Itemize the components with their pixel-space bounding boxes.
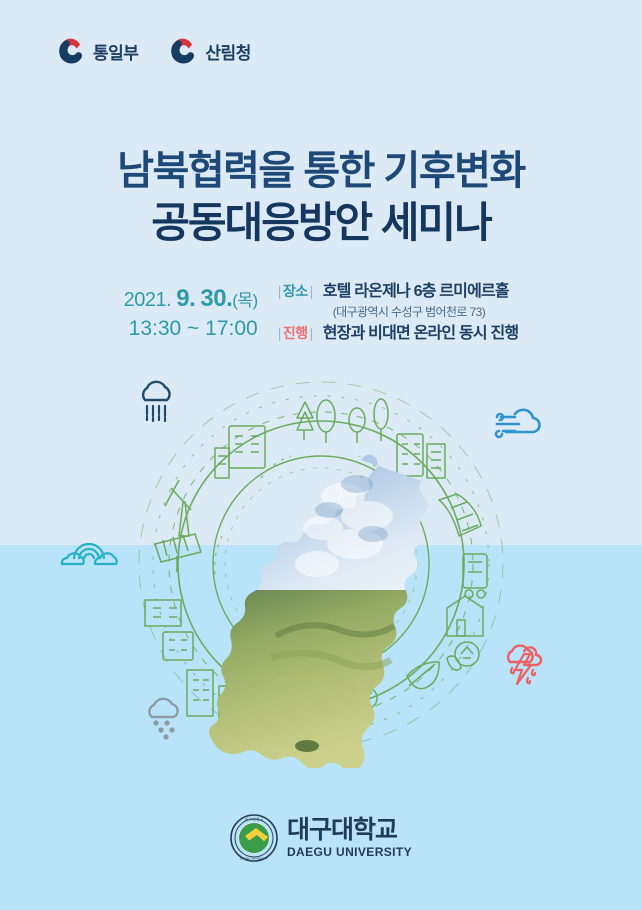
detail-tag-mode-label: 진행 [283,325,308,341]
taegeuk-emblem-icon [52,34,86,68]
ministry-of-unification-label: 통일부 [93,39,138,64]
event-datetime: 2021. 9. 30.(목) 13:30 ~ 17:00 [124,281,258,344]
university-seal-icon: 대 구 대 학 교 DAEGU UNIVERSITY [230,814,278,862]
snow-cloud-icon [140,693,194,741]
jeju-island [295,740,319,752]
event-date: 2021. 9. 30.(목) [124,283,258,315]
city-icons-top-right [397,434,445,478]
event-details: |장소| 호텔 라온제나 6층 르미에르홀 (대구광역시 수성구 범어천로 73… [276,281,519,344]
university-name-block: 대구대학교 DAEGU UNIVERSITY [287,818,412,858]
daegu-university-logo: 대 구 대 학 교 DAEGU UNIVERSITY 대구대학교 DAEGU U… [0,814,642,862]
svg-text:대 구 대 학 교: 대 구 대 학 교 [245,816,263,821]
rain-cloud-icon [133,378,179,426]
detail-row-place: |장소| 호텔 라온제나 6층 르미에르홀 [276,282,519,302]
detail-tag-mode: |진행| [276,325,315,343]
university-name-ko: 대구대학교 [287,818,412,843]
detail-tag-place: |장소| [276,283,315,301]
ministry-of-unification-logo: 통일부 [52,34,138,68]
title-line-1: 남북협력을 통한 기후변화 [0,148,642,194]
wind-cloud-icon [487,404,549,444]
title-line-2: 공동대응방안 세미나 [0,198,642,248]
seminar-poster: 통일부 산림청 남북협력을 통한 기후변화 공동대응방안 세미나 2021. 9… [0,0,642,910]
detail-place-value: 호텔 라온제나 6층 르미에르홀 [323,282,509,302]
svg-text:DAEGU UNIVERSITY: DAEGU UNIVERSITY [240,857,268,861]
event-date-month: 9. [176,285,195,312]
university-name-en: DAEGU UNIVERSITY [287,846,412,858]
korea-forest-service-logo: 산림청 [164,34,250,68]
detail-row-mode: |진행| 현장과 비대면 온라인 동시 진행 [276,324,519,344]
korean-peninsula-map [209,455,428,768]
detail-mode-value: 현장과 비대면 온라인 동시 진행 [323,324,519,344]
detail-tag-place-label: 장소 [283,283,308,299]
taegeuk-emblem-icon [164,34,198,68]
event-date-weekday: (목) [232,291,257,310]
tag-bar-left: | [276,283,283,299]
tag-bar-right: | [308,325,315,341]
rainbow-cloud-icon [58,531,120,569]
event-time: 13:30 ~ 17:00 [124,315,258,343]
thunderstorm-icon [500,640,548,686]
event-date-year: 2021. [124,289,172,311]
korea-forest-service-label: 산림청 [205,39,250,64]
poster-title: 남북협력을 통한 기후변화 공동대응방안 세미나 [0,148,642,248]
detail-place-address: (대구광역시 수성구 범어천로 73) [333,303,519,320]
event-date-day: 30. [200,285,232,312]
government-logo-row: 통일부 산림청 [52,34,251,68]
tag-bar-left: | [276,325,283,341]
tag-bar-right: | [308,283,315,299]
event-info-block: 2021. 9. 30.(목) 13:30 ~ 17:00 |장소| 호텔 라온… [0,281,642,344]
wind-turbine-icon [165,480,191,536]
building-icons-top-left [215,426,265,478]
